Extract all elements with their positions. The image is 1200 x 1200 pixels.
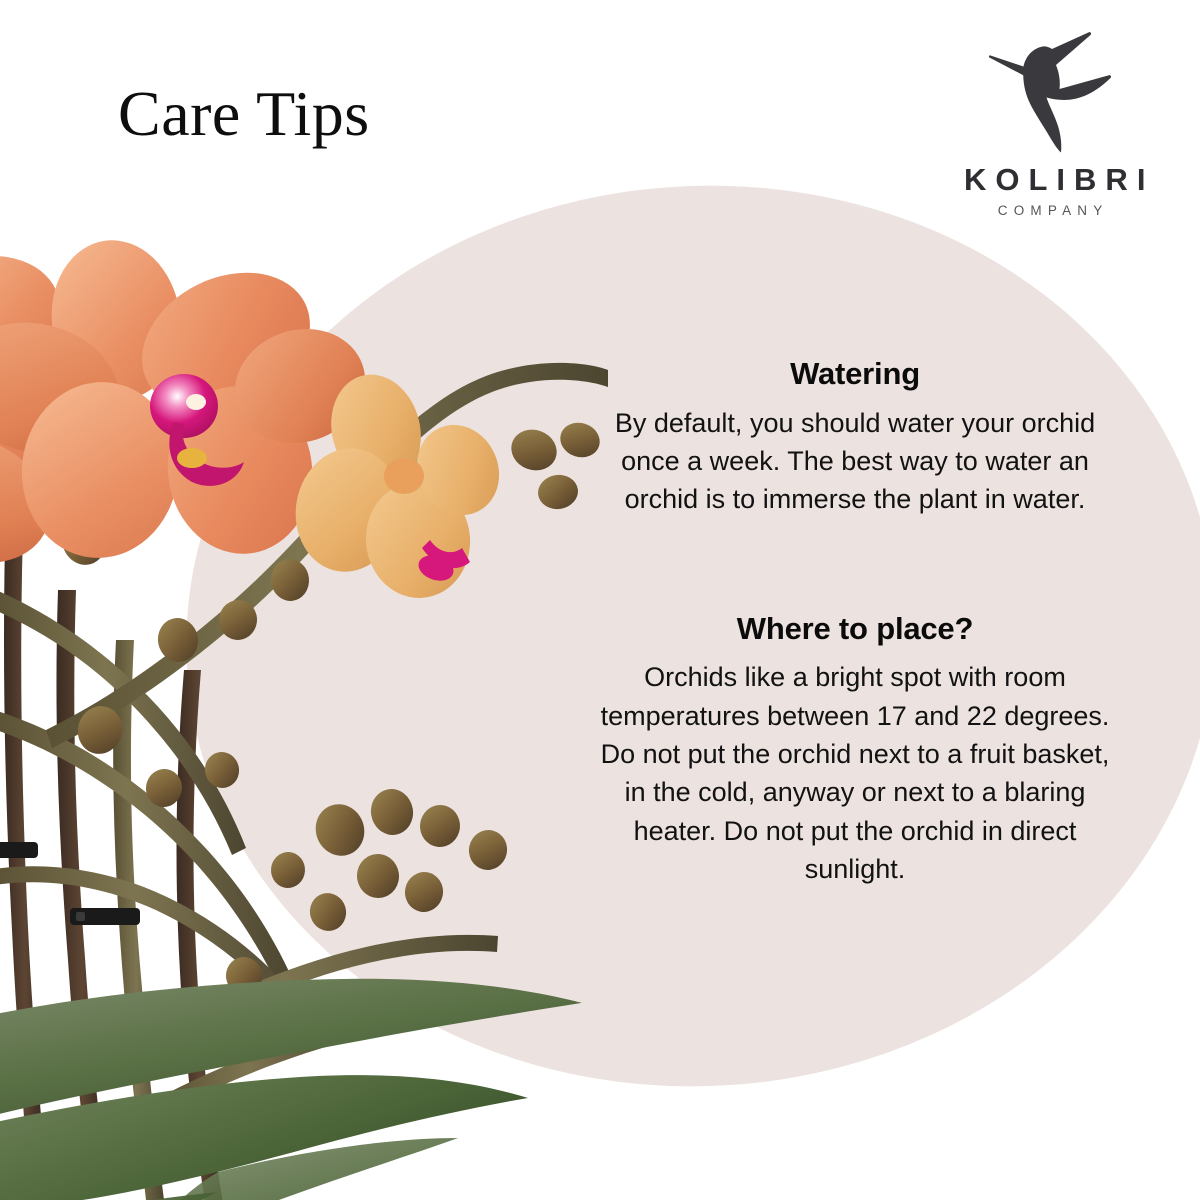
brand-logo[interactable]: KOLIBRI COMPANY bbox=[955, 22, 1145, 218]
orchid-photo bbox=[0, 170, 608, 1200]
orchid-leaves bbox=[0, 964, 582, 1200]
care-tip-body: Orchids like a bright spot with room tem… bbox=[594, 658, 1116, 888]
care-tip-body: By default, you should water your orchid… bbox=[594, 404, 1116, 519]
care-tip-placement: Where to place? Orchids like a bright sp… bbox=[594, 611, 1116, 889]
care-tip-heading: Where to place? bbox=[594, 611, 1116, 647]
care-tip-watering: Watering By default, you should water yo… bbox=[594, 356, 1116, 519]
care-tip-heading: Watering bbox=[594, 356, 1116, 392]
care-tips-graphic: Care Tips KOLIBRI COMPANY Watering By de… bbox=[0, 0, 1200, 1200]
logo-wordmark: KOLIBRI bbox=[955, 164, 1145, 195]
care-tips-text-column: Watering By default, you should water yo… bbox=[594, 356, 1116, 888]
hummingbird-icon bbox=[980, 22, 1120, 154]
logo-sub-wordmark: COMPANY bbox=[955, 204, 1145, 218]
page-title: Care Tips bbox=[118, 82, 370, 146]
